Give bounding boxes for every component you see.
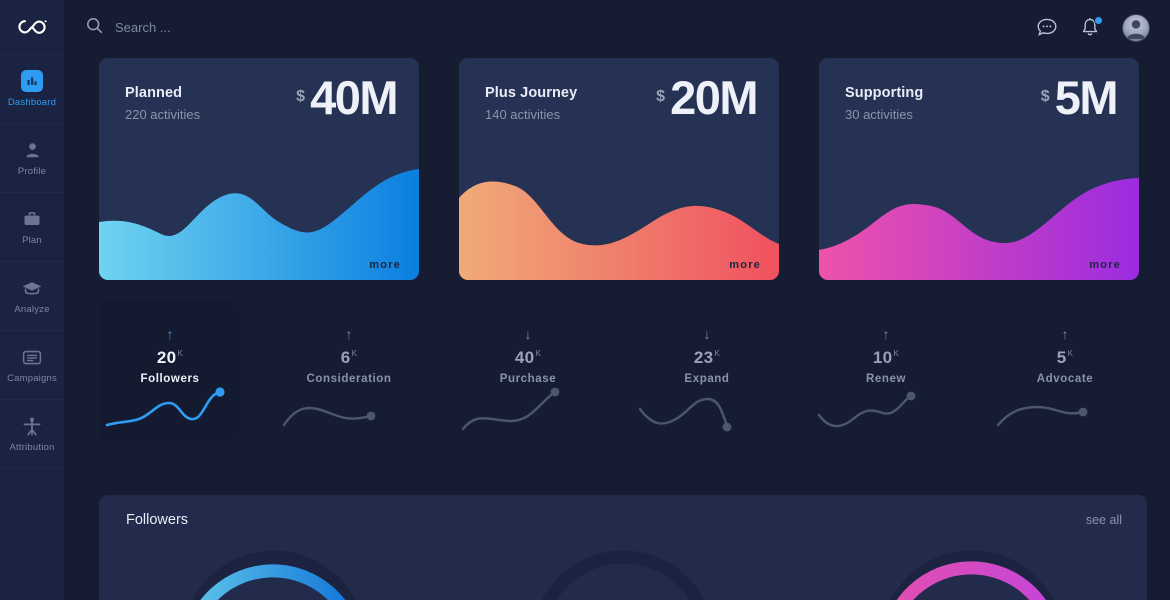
avatar[interactable]	[1122, 14, 1150, 42]
funnel-metrics: ↑ 20K Followers ↑ 6K Consideration	[64, 280, 1170, 441]
trend-arrow-down-icon: ↓	[525, 327, 532, 341]
metric-value: 5K	[1057, 348, 1073, 368]
metric-unit: K	[352, 349, 358, 358]
metric-followers[interactable]: ↑ 20K Followers	[99, 301, 241, 441]
metric-value: 40K	[515, 348, 541, 368]
metric-sparkline	[99, 381, 241, 433]
card-amount: $ 20M	[656, 74, 757, 121]
panel-title: Followers	[126, 512, 188, 528]
card-currency: $	[1041, 88, 1050, 106]
metric-sparkline	[457, 381, 599, 433]
sidebar-item-label: Campaigns	[7, 373, 57, 384]
trend-arrow-up-icon: ↑	[883, 327, 890, 341]
monitor-icon	[21, 346, 43, 368]
bell-icon[interactable]	[1080, 17, 1100, 38]
card-more-link[interactable]: more	[729, 259, 761, 271]
metric-sparkline	[815, 381, 957, 433]
card-more-link[interactable]: more	[369, 259, 401, 271]
metric-value: 23K	[694, 348, 720, 368]
see-all-link[interactable]: see all	[1086, 513, 1122, 527]
search-input[interactable]	[115, 20, 395, 35]
trend-arrow-down-icon: ↓	[704, 327, 711, 341]
graduation-cap-icon	[21, 277, 43, 299]
card-currency: $	[656, 88, 665, 106]
bar-chart-icon	[21, 70, 43, 92]
gauge-group	[99, 528, 1147, 600]
chat-bubble-icon[interactable]	[1036, 17, 1058, 38]
card-more-link[interactable]: more	[1089, 259, 1121, 271]
metric-unit: K	[893, 349, 899, 358]
dashboard-app: Dashboard Profile Plan	[0, 0, 1170, 600]
metric-sparkline	[636, 381, 778, 433]
metric-unit: K	[1068, 349, 1074, 358]
gauge-chart-3	[857, 542, 1087, 600]
briefcase-icon	[22, 208, 42, 230]
main-content: Planned 220 activities $ 40M more	[64, 0, 1170, 600]
sidebar-item-dashboard[interactable]: Dashboard	[0, 55, 64, 124]
metric-unit: K	[714, 349, 720, 358]
card-currency: $	[296, 88, 305, 106]
card-amount: $ 5M	[1041, 74, 1117, 121]
metric-sparkline	[994, 381, 1136, 433]
summary-cards: Planned 220 activities $ 40M more	[64, 55, 1170, 280]
app-logo[interactable]	[0, 0, 64, 55]
panel-header: Followers see all	[99, 495, 1147, 528]
user-icon	[23, 139, 42, 161]
metric-sparkline	[278, 381, 420, 433]
sidebar-item-attribution[interactable]: Attribution	[0, 400, 64, 469]
metric-renew[interactable]: ↑ 10K Renew	[815, 301, 957, 441]
card-value: 20M	[670, 74, 757, 121]
sidebar-item-label: Analyze	[14, 304, 49, 315]
topbar-actions	[1036, 14, 1150, 42]
metric-unit: K	[535, 349, 541, 358]
sidebar-item-plan[interactable]: Plan	[0, 193, 64, 262]
person-arms-icon	[22, 415, 42, 437]
metric-purchase[interactable]: ↓ 40K Purchase	[457, 301, 599, 441]
sidebar-item-analyze[interactable]: Analyze	[0, 262, 64, 331]
metric-value: 20K	[157, 348, 183, 368]
sidebar: Dashboard Profile Plan	[0, 0, 64, 600]
search-icon[interactable]	[86, 17, 103, 39]
sidebar-item-label: Profile	[18, 166, 46, 177]
summary-card-plus-journey[interactable]: Plus Journey 140 activities $ 20M more	[459, 58, 779, 280]
sidebar-item-label: Plan	[22, 235, 42, 246]
trend-arrow-up-icon: ↑	[346, 327, 353, 341]
metric-expand[interactable]: ↓ 23K Expand	[636, 301, 778, 441]
search-area	[86, 17, 1024, 39]
metric-value: 10K	[873, 348, 899, 368]
topbar	[64, 0, 1170, 55]
sidebar-item-campaigns[interactable]: Campaigns	[0, 331, 64, 400]
card-value: 40M	[310, 74, 397, 121]
notification-badge	[1094, 16, 1103, 25]
metric-advocate[interactable]: ↑ 5K Advocate	[994, 301, 1136, 441]
gauge-chart-2	[508, 542, 738, 600]
summary-card-planned[interactable]: Planned 220 activities $ 40M more	[99, 58, 419, 280]
metric-value: 6K	[341, 348, 357, 368]
metric-consideration[interactable]: ↑ 6K Consideration	[278, 301, 420, 441]
card-value: 5M	[1055, 74, 1117, 121]
card-amount: $ 40M	[296, 74, 397, 121]
trend-arrow-up-icon: ↑	[167, 327, 174, 341]
summary-card-supporting[interactable]: Supporting 30 activities $ 5M more	[819, 58, 1139, 280]
gauge-chart-1	[159, 542, 389, 600]
sidebar-item-label: Attribution	[10, 442, 55, 453]
trend-arrow-up-icon: ↑	[1062, 327, 1069, 341]
metric-unit: K	[177, 349, 183, 358]
infinity-logo-icon	[15, 17, 49, 37]
followers-panel: Followers see all	[99, 495, 1147, 600]
sidebar-item-label: Dashboard	[8, 97, 56, 108]
sidebar-item-profile[interactable]: Profile	[0, 124, 64, 193]
